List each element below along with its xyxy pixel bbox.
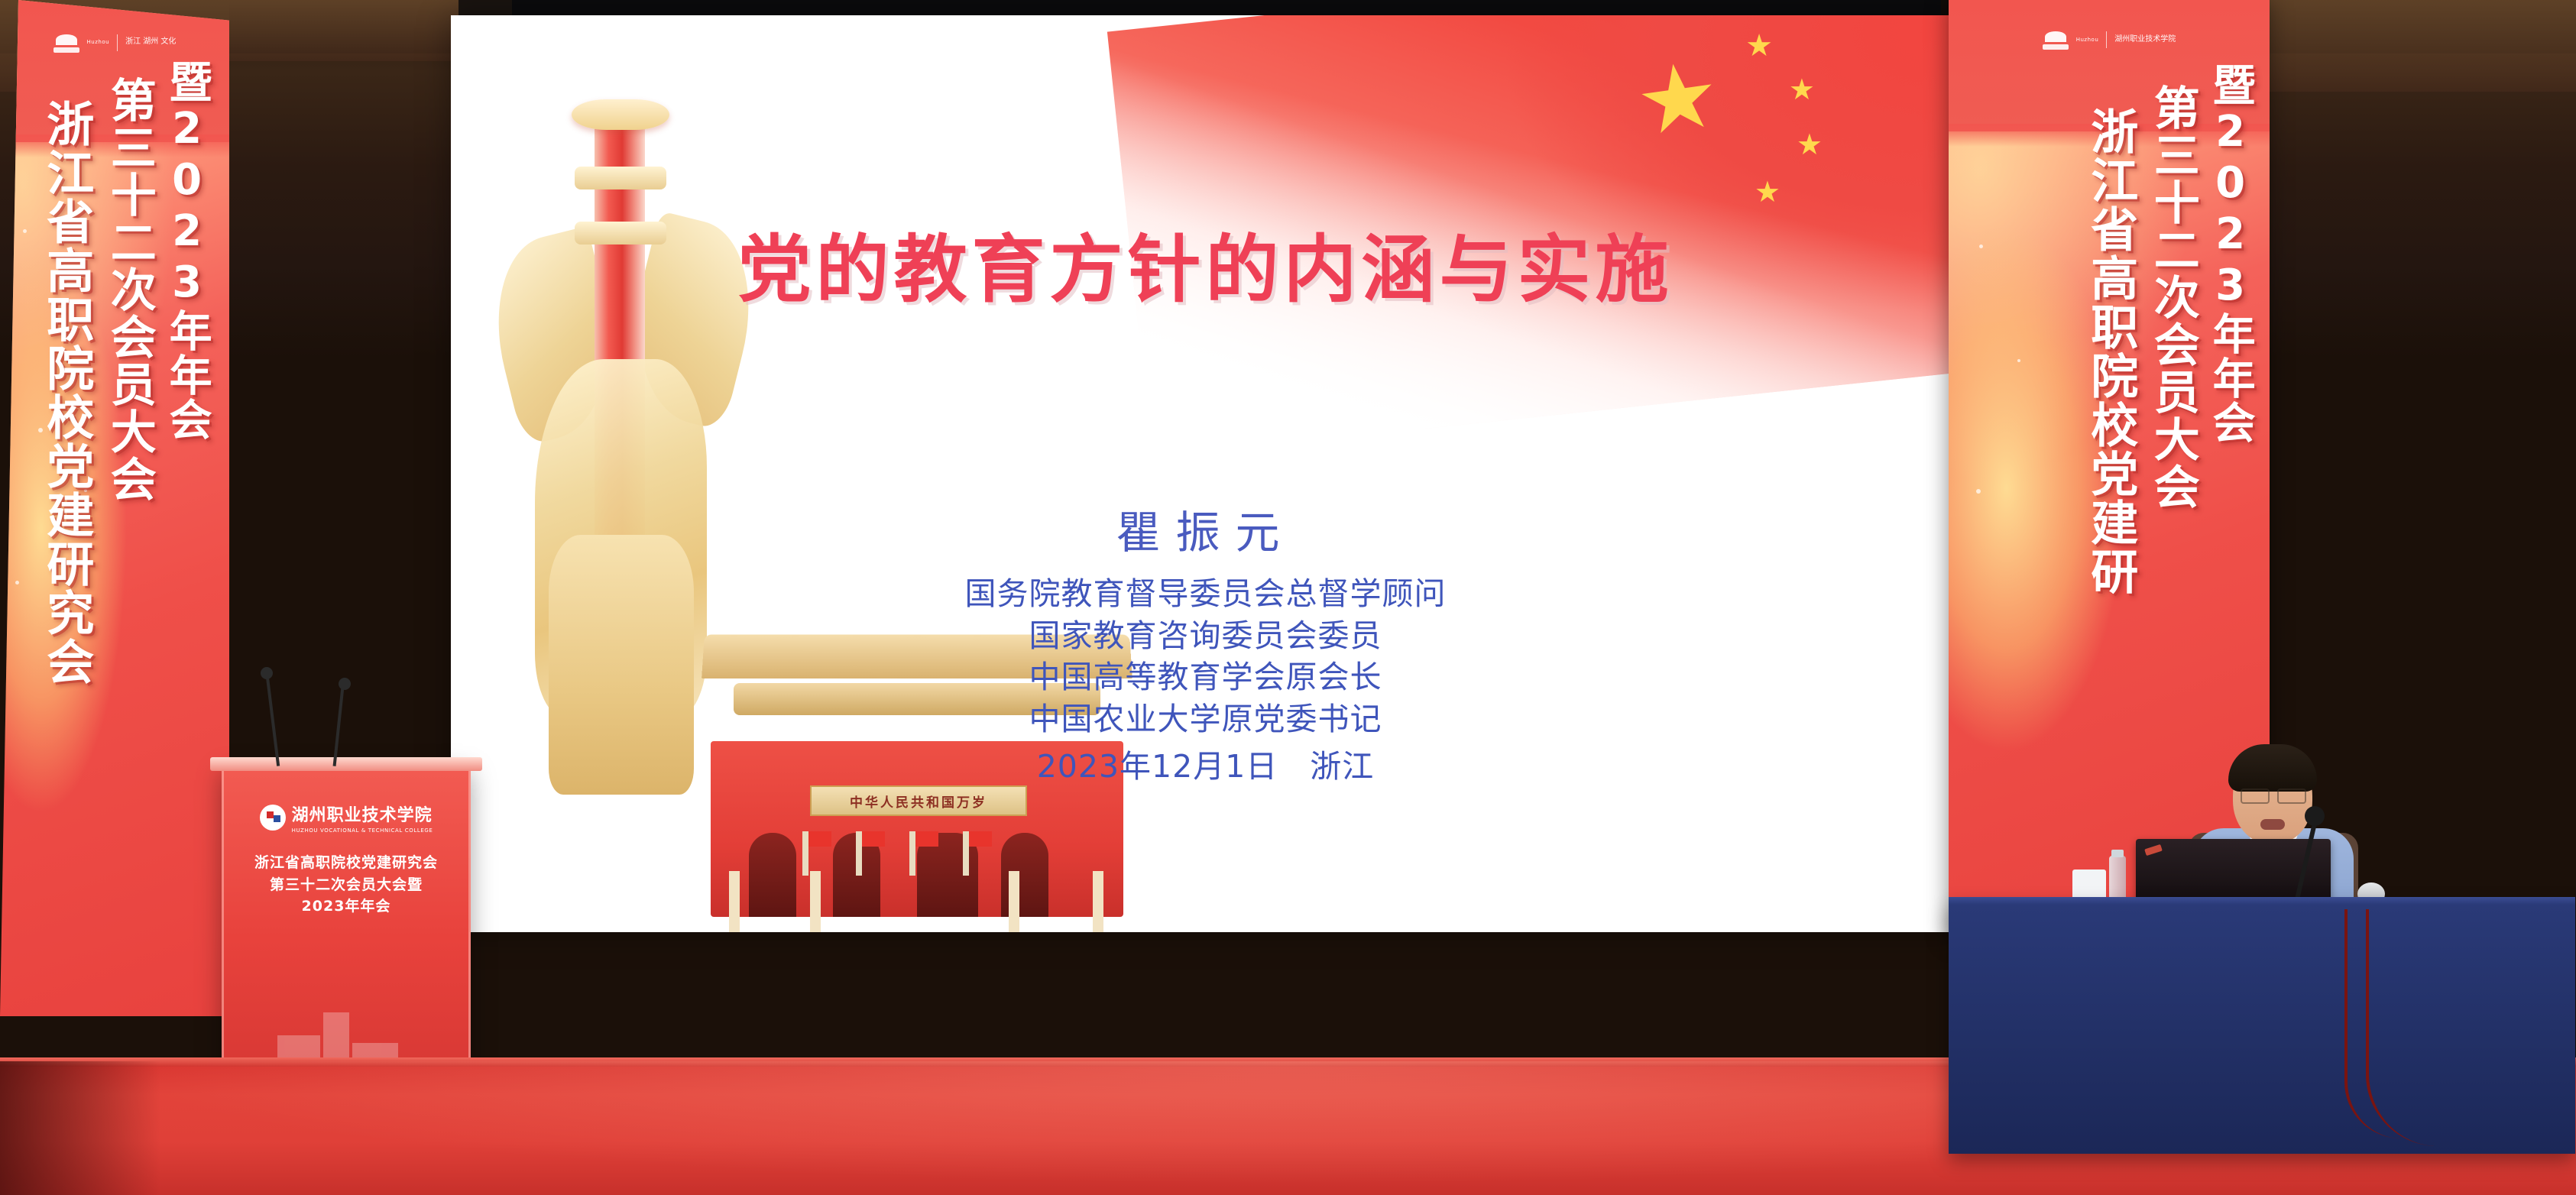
left-banner-column-3: 暨2023年年会: [165, 60, 209, 442]
college-seal-icon: [260, 805, 286, 831]
huzhou-logo-icon: [2043, 30, 2069, 50]
credential-line: 中国农业大学原党委书记: [451, 698, 1960, 740]
gate-column-1: [729, 871, 740, 932]
gate-flag-2: [856, 831, 862, 876]
gate-flag-3: [909, 831, 915, 876]
logo-divider: [117, 34, 118, 51]
slide-date-line: 2023年12月1日 浙江: [451, 746, 1960, 788]
left-banner-logo-cn: 浙江 湖州 文化: [125, 38, 176, 47]
left-banner: Huzhou 浙江 湖州 文化 浙江省高职院校党建研究会 第三十二次会员大会 暨…: [0, 0, 229, 1016]
mic-cable-2: [2366, 909, 2438, 1146]
slide-title: 党的教育方针的内涵与实施: [451, 210, 1960, 316]
laptop-logo-icon: [2144, 844, 2163, 856]
flag-star-1: ★: [1745, 31, 1773, 61]
podium-institution-en: HUZHOU VOCATIONAL & TECHNICAL COLLEGE: [292, 827, 433, 834]
speaker-mouth: [2260, 819, 2285, 830]
logo-divider: [2106, 31, 2107, 48]
pillar-cap: [572, 99, 669, 130]
credential-line: 国务院教育督导委员会总督学顾问: [451, 573, 1960, 615]
gate-plaque-text: 中华人民共和国万岁: [850, 792, 987, 811]
podium-mic-head-2: [339, 678, 351, 690]
podium-institution-cn: 湖州职业技术学院: [292, 805, 433, 825]
projection-screen: ★ ★ ★ ★ ★ 中华人民共和国万岁: [451, 15, 1960, 932]
flag-star-large: ★: [1631, 48, 1725, 151]
right-banner-logo-en: Huzhou: [2076, 37, 2099, 43]
water-bottle-cap: [2111, 850, 2124, 857]
left-banner-column-2: 第三十二次会员大会: [105, 76, 152, 503]
gate-column-2: [810, 871, 821, 932]
sparkle: [2017, 359, 2020, 362]
table-mic-head: [2305, 806, 2325, 826]
right-banner-logo-cn: 湖州职业技术学院: [2114, 36, 2176, 44]
pillar-band-1: [575, 167, 666, 189]
sparkle: [15, 581, 19, 585]
gate-flag-4: [963, 831, 969, 876]
speaker-glasses: [2241, 789, 2306, 801]
slide-credentials: 国务院教育督导委员会总督学顾问 国家教育咨询委员会委员 中国高等教育学会原会长 …: [451, 573, 1960, 788]
podium-mic-head-1: [261, 667, 273, 679]
gate-column-3: [1009, 871, 1019, 932]
speaker-table: [1949, 902, 2575, 1154]
sparkle: [23, 229, 27, 233]
podium-event-lines: 浙江省高职院校党建研究会 第三十二次会员大会暨 2023年年会: [224, 852, 468, 918]
credential-line: 国家教育咨询委员会委员: [451, 615, 1960, 657]
stage-scene: ★ ★ ★ ★ ★ 中华人民共和国万岁: [0, 0, 2576, 1195]
left-banner-logo-en: Huzhou: [87, 40, 110, 45]
sparkle: [1979, 245, 1983, 248]
gate-flag-1: [802, 831, 808, 876]
ceiling-panel-mid: [229, 0, 458, 61]
podium-institution-block: 湖州职业技术学院 HUZHOU VOCATIONAL & TECHNICAL C…: [292, 802, 433, 834]
right-banner-column-2: 第三十二次会员大会: [2149, 84, 2195, 510]
right-banner-column-1: 浙江省高职院校党建研: [2086, 107, 2134, 596]
podium-line: 2023年年会: [224, 895, 468, 918]
podium-institution-logo: 湖州职业技术学院 HUZHOU VOCATIONAL & TECHNICAL C…: [224, 802, 468, 834]
sparkle: [1976, 489, 1981, 494]
right-banner-column-3: 暨2023年年会: [2208, 63, 2252, 445]
flag-star-3: ★: [1797, 130, 1823, 159]
stage-floor-shadow: [0, 1061, 160, 1195]
gate-arch-1: [749, 833, 796, 917]
flag-star-4: ★: [1755, 177, 1781, 206]
podium-top-surface: [210, 757, 482, 771]
gate-column-4: [1093, 871, 1103, 932]
left-banner-logo-row: Huzhou 浙江 湖州 文化: [0, 33, 229, 53]
speaker-hair: [2228, 744, 2317, 792]
flag-star-2: ★: [1789, 75, 1815, 104]
credential-line: 中国高等教育学会原会长: [451, 656, 1960, 698]
slide-speaker-name: 瞿振元: [451, 497, 1960, 561]
left-banner-column-1: 浙江省高职院校党建研究会: [42, 99, 90, 686]
right-banner-logo-row: Huzhou 湖州职业技术学院: [1949, 30, 2270, 50]
podium-line: 浙江省高职院校党建研究会: [224, 852, 468, 874]
huzhou-logo-icon: [53, 33, 79, 53]
podium-line: 第三十二次会员大会暨: [224, 874, 468, 896]
gate-plaque: 中华人民共和国万岁: [810, 785, 1027, 816]
speaker-table-top-edge: [1949, 897, 2575, 905]
slide: ★ ★ ★ ★ ★ 中华人民共和国万岁: [451, 15, 1960, 932]
